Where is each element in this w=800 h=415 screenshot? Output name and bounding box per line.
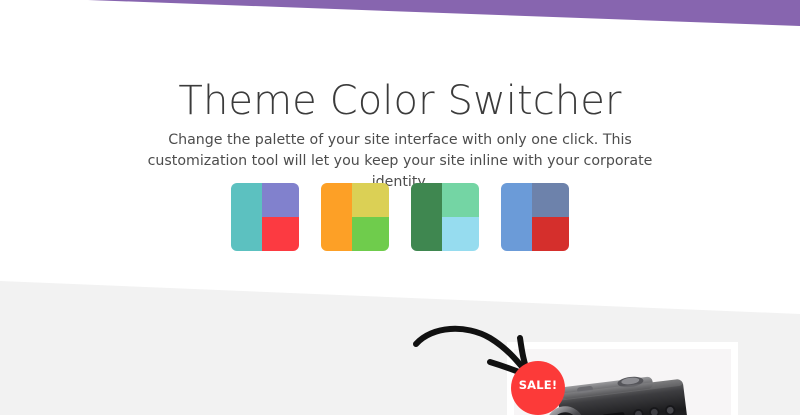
swatch-2-bottom-color <box>352 217 389 251</box>
swatch-1-main-color <box>231 183 262 251</box>
palette-swatch-4[interactable] <box>501 183 569 251</box>
hero-section: Theme Color Switcher Change the palette … <box>0 0 800 285</box>
camera-icon <box>542 371 717 415</box>
swatch-1-bottom-color <box>262 217 299 251</box>
swatch-2-top-color <box>352 183 389 217</box>
palette-swatch-2[interactable] <box>321 183 389 251</box>
sale-badge[interactable]: SALE! <box>511 361 565 415</box>
page-root: Theme Color Switcher Change the palette … <box>0 0 800 415</box>
swatch-4-main-color <box>501 183 532 251</box>
palette-swatch-1[interactable] <box>231 183 299 251</box>
swatch-1-top-color <box>262 183 299 217</box>
swatch-3-top-color <box>442 183 479 217</box>
swatch-4-top-color <box>532 183 569 217</box>
sale-badge-label: SALE! <box>519 378 558 392</box>
page-title: Theme Color Switcher <box>0 77 800 125</box>
swatch-4-bottom-color <box>532 217 569 251</box>
palette-swatch-3[interactable] <box>411 183 479 251</box>
section-title: Product Badges <box>38 410 333 415</box>
swatch-2-main-color <box>321 183 352 251</box>
swatch-3-main-color <box>411 183 442 251</box>
palette-swatch-row <box>231 183 569 251</box>
swatch-3-bottom-color <box>442 217 479 251</box>
